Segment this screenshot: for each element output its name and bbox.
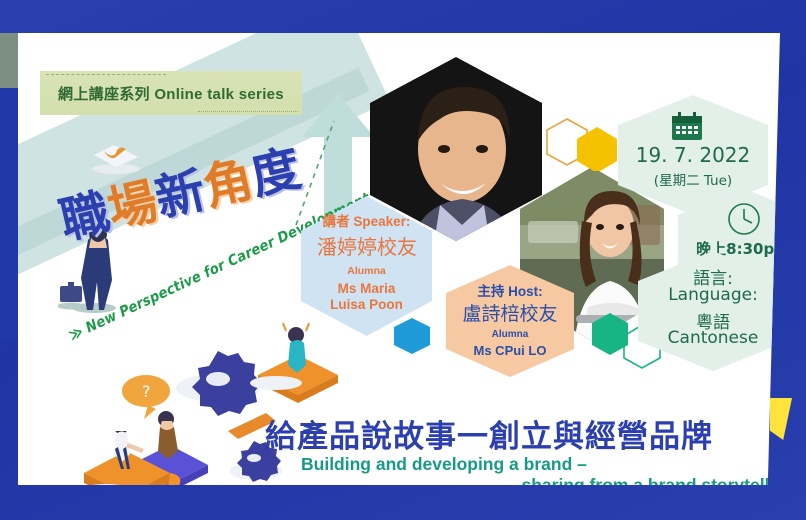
time-value: 晚上8:30pm: [673, 238, 780, 259]
topic-subtitle-line1: Building and developing a brand –: [301, 454, 587, 475]
deco-hexagon-blue: [394, 318, 430, 354]
speaker-name-en-line2: Luisa Poon: [301, 297, 432, 313]
deco-hexagons-yellow: [545, 117, 623, 171]
topic-title-zh: 給產品說故事一創立與經營品牌: [265, 411, 780, 456]
poster-card: 網上講座系列 Online talk series 職場新角度 ≫ New Pe…: [18, 33, 780, 485]
calendar-icon: [670, 111, 704, 141]
host-role-label: 主持 Host:: [446, 280, 574, 300]
series-banner: 網上講座系列 Online talk series: [40, 71, 302, 115]
date-weekday: (星期二 Tue): [618, 169, 768, 189]
language-value-en: Cantonese: [638, 328, 780, 348]
speaker-name-en-line1: Ms Maria: [301, 281, 432, 297]
poster-root: 網上講座系列 Online talk series 職場新角度 ≫ New Pe…: [0, 0, 806, 520]
svg-text:?: ?: [142, 382, 151, 401]
speaker-name-en: Ms Maria Luisa Poon: [301, 281, 432, 313]
clock-icon: [726, 201, 762, 237]
speaker-name-zh: 潘婷婷校友: [296, 231, 438, 260]
date-value: 19. 7. 2022: [618, 143, 768, 167]
language-label-en: Language:: [638, 285, 780, 305]
speaker-role-label: 講者 Speaker:: [301, 210, 432, 230]
series-banner-label: 網上講座系列 Online talk series: [58, 83, 284, 104]
host-alumna-label: Alumna: [446, 329, 574, 340]
host-name-en: Ms CPui LO: [446, 343, 574, 358]
banner-dash-top: [46, 74, 166, 75]
banner-dash-bottom: [198, 111, 298, 112]
speaker-alumna-label: Alumna: [301, 265, 432, 277]
isometric-person-presenting: [76, 431, 206, 485]
topic-subtitle-line2: sharing from a brand storyteller: [301, 475, 780, 485]
topic-banner-notch: [770, 398, 792, 440]
host-name-zh: 盧詩棓校友: [442, 299, 578, 326]
